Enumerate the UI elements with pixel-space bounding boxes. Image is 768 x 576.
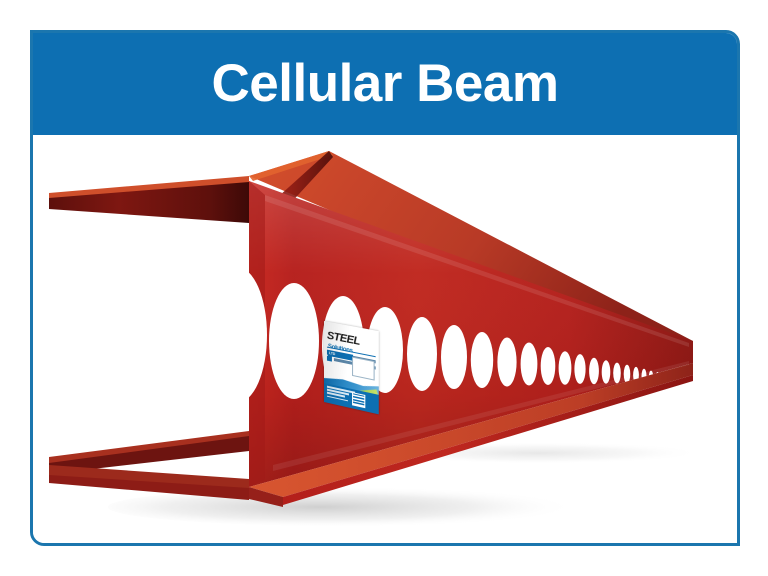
- cell-hole: [559, 351, 572, 385]
- cell-hole: [441, 325, 467, 389]
- qr-code-icon: [352, 392, 365, 408]
- cell-hole: [207, 267, 267, 403]
- cell-hole: [497, 338, 516, 387]
- cell-hole: [602, 360, 611, 383]
- page-title: Cellular Beam: [212, 57, 559, 110]
- label-info-box: [352, 357, 375, 381]
- product-image-area: STEELSolutionsLTD: [33, 135, 737, 543]
- cell-hole: [541, 347, 556, 385]
- cell-hole: [269, 283, 319, 399]
- label-brand-solutions: SolutionsLTD: [328, 344, 353, 361]
- cell-hole: [521, 343, 538, 386]
- card-header: Cellular Beam: [30, 30, 740, 135]
- label-footer-text: [327, 386, 355, 406]
- cell-hole: [407, 317, 437, 391]
- product-label: STEELSolutionsLTD: [324, 321, 379, 414]
- cell-hole: [574, 354, 585, 384]
- cell-hole: [471, 332, 493, 388]
- cellular-beam-illustration: [33, 135, 737, 543]
- product-card: Cellular Beam: [30, 30, 740, 546]
- cell-hole: [589, 358, 599, 384]
